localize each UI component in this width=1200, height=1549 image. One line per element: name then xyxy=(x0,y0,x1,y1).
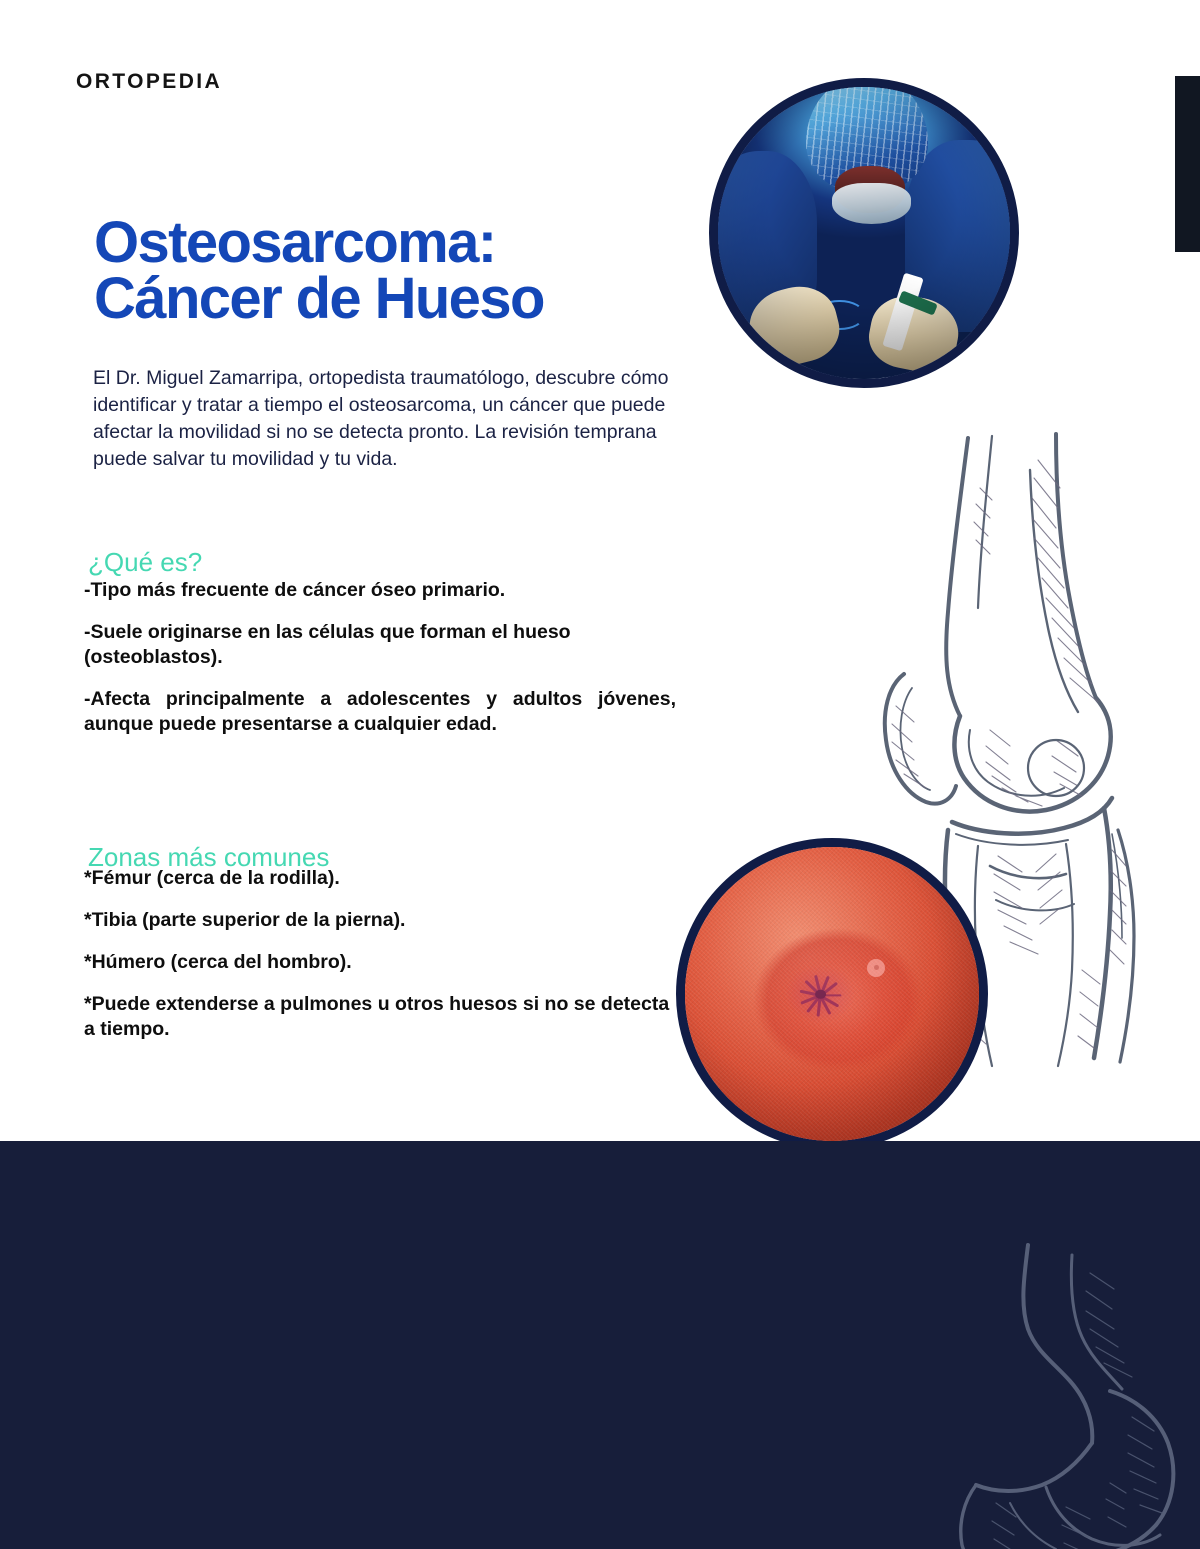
photo-vignette xyxy=(685,847,979,1141)
skin-lesion-closeup-photo xyxy=(676,838,988,1150)
list-item: -Afecta principalmente a adolescentes y … xyxy=(84,687,676,737)
headline-line-2: Cáncer de Hueso xyxy=(94,271,694,327)
list-item: -Tipo más frecuente de cáncer óseo prima… xyxy=(84,578,676,603)
surgeon-operating-photo xyxy=(709,78,1019,388)
lead-paragraph: El Dr. Miguel Zamarripa, ortopedista tra… xyxy=(93,365,673,474)
list-que-es: -Tipo más frecuente de cáncer óseo prima… xyxy=(84,578,676,737)
list-zonas-comunes: *Fémur (cerca de la rodilla). *Tibia (pa… xyxy=(84,866,676,1042)
bone-joint-watermark-illustration xyxy=(950,1231,1200,1549)
list-item: *Fémur (cerca de la rodilla). xyxy=(84,866,676,891)
list-item: -Suele originarse en las células que for… xyxy=(84,620,676,670)
list-item: *Puede extenderse a pulmones u otros hue… xyxy=(84,992,676,1042)
heading-que-es: ¿Qué es? xyxy=(88,547,202,578)
photo-vignette xyxy=(718,87,1010,379)
right-edge-bar xyxy=(1175,76,1200,252)
alert-band: SEÑALES DE ALERTA *Dolor persistente que… xyxy=(0,1141,1200,1549)
surgeon-photo-content xyxy=(718,87,1010,379)
list-item: *Húmero (cerca del hombro). xyxy=(84,950,676,975)
skin-photo-content xyxy=(685,847,979,1141)
section-kicker: ORTOPEDIA xyxy=(76,70,222,94)
headline-line-1: Osteosarcoma: xyxy=(94,210,495,275)
page-title: Osteosarcoma: Cáncer de Hueso xyxy=(94,215,694,328)
magazine-page: ORTOPEDIA Osteosarcoma: Cáncer de Hueso … xyxy=(0,0,1200,1549)
list-item: *Tibia (parte superior de la pierna). xyxy=(84,908,676,933)
